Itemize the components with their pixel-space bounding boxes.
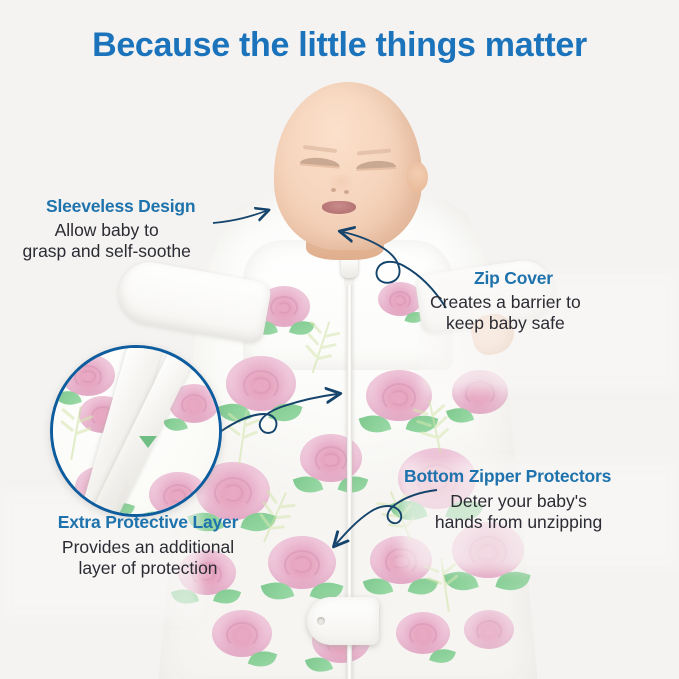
magnified-fabric-inset bbox=[50, 345, 222, 517]
annotation-heading: Extra Protective Layer bbox=[12, 512, 284, 533]
annotation-body-line: Deter your baby's bbox=[426, 491, 611, 512]
annotation-body: Allow baby to grasp and self-soothe bbox=[18, 220, 195, 261]
infographic-canvas: Because the little things matter bbox=[0, 0, 679, 679]
annotation-body-line: hands from unzipping bbox=[426, 512, 611, 533]
baby-nostril bbox=[331, 188, 336, 192]
annotation-body: Creates a barrier to keep baby safe bbox=[430, 292, 581, 333]
annotation-heading: Zip Cover bbox=[474, 268, 581, 289]
rose-motif bbox=[149, 472, 207, 517]
annotation-body-line: Allow baby to bbox=[18, 220, 195, 241]
annotation-body: Deter your baby's hands from unzipping bbox=[426, 491, 611, 532]
bottom-zipper-protector bbox=[307, 597, 379, 645]
page-title: Because the little things matter bbox=[0, 26, 679, 65]
annotation-body-line: layer of protection bbox=[12, 558, 284, 579]
annotation-sleeveless: Sleeveless Design Allow baby to grasp an… bbox=[46, 196, 195, 261]
baby-chin bbox=[308, 216, 374, 242]
baby-nostril bbox=[344, 190, 349, 194]
snap-button bbox=[317, 617, 325, 625]
annotation-body-line: Provides an additional bbox=[12, 537, 284, 558]
baby-ear bbox=[406, 162, 428, 192]
annotation-body-line: Creates a barrier to bbox=[430, 292, 581, 313]
annotation-body-line: keep baby safe bbox=[430, 313, 581, 334]
annotation-extra-layer: Extra Protective Layer Provides an addit… bbox=[12, 512, 284, 578]
annotation-bottom-zipper: Bottom Zipper Protectors Deter your baby… bbox=[404, 466, 611, 532]
baby-mouth bbox=[322, 201, 356, 214]
annotation-heading: Bottom Zipper Protectors bbox=[404, 466, 611, 487]
annotation-heading: Sleeveless Design bbox=[46, 196, 195, 217]
inset-green-marker bbox=[139, 436, 157, 448]
annotation-zip-cover: Zip Cover Creates a barrier to keep baby… bbox=[432, 268, 581, 333]
annotation-body: Provides an additional layer of protecti… bbox=[12, 537, 284, 578]
annotation-body-line: grasp and self-soothe bbox=[18, 241, 195, 262]
